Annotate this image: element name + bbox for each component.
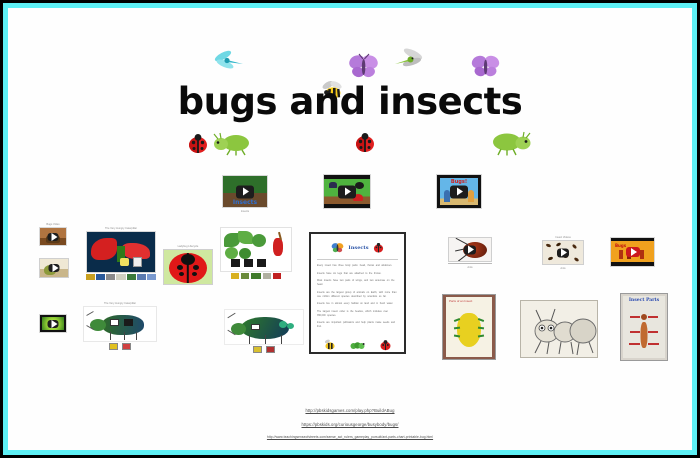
document-paragraph: Insects are the largest group of animals… [317, 291, 398, 298]
left-thumb-bug-clip-1[interactable]: Bugs Video [39, 223, 67, 246]
board-thumbnail-strip[interactable] [224, 346, 304, 353]
link-teaching-resource[interactable]: http://www.teachingsenseofstreets.com/se… [8, 436, 692, 440]
video-card-ant-closeup[interactable]: Ants [448, 237, 492, 269]
board-hungry-caterpillar[interactable] [220, 227, 292, 279]
play-button-icon[interactable] [48, 320, 59, 328]
video-thumbnail[interactable]: Insects [222, 175, 268, 208]
board-accent-border: bugs and insects [3, 3, 697, 455]
video-thumbnail[interactable] [542, 240, 584, 265]
document-paragraph: Insects have six legs that are attached … [317, 272, 398, 276]
play-button-icon[interactable] [450, 185, 468, 198]
butterfly-icon [331, 242, 344, 253]
artwork-pencil-ant-drawing[interactable] [520, 300, 598, 358]
video-overlay-title: Insects [223, 199, 267, 206]
document-divider [317, 259, 398, 260]
ladybug-photo[interactable] [163, 249, 213, 285]
board-image[interactable] [224, 309, 304, 345]
link-pbskids-curious-george[interactable]: https://pbskids.org/curiousgeorge/busybo… [8, 422, 692, 427]
video-card-insects-intro[interactable]: Insects Insects [222, 175, 268, 213]
video-thumbnail[interactable]: Bugs! [436, 174, 482, 209]
play-button-icon[interactable] [338, 185, 356, 198]
board-image[interactable] [220, 227, 292, 272]
document-paragraph: Every insect has three body parts: head,… [317, 264, 398, 268]
document-header: Insects [317, 239, 398, 256]
board-canvas: bugs and insects [8, 8, 692, 450]
board-image[interactable] [83, 306, 157, 342]
butterfly-purple-right-icon [471, 54, 501, 80]
video-thumbnail[interactable] [323, 174, 371, 209]
video-card-bug-cartoon-orange[interactable]: Bugs [610, 237, 655, 269]
left-thumb-bug-clip-2[interactable] [39, 258, 69, 280]
image-caption-top: Ladybug Lifecycle [163, 245, 213, 248]
play-button-icon[interactable] [464, 245, 476, 254]
insects-info-document[interactable]: Insects Every insect has three body part… [309, 232, 406, 354]
resource-links: http://pbskidsgames.com/play.php?BuildAB… [8, 408, 692, 440]
video-caption: Insects [222, 210, 268, 213]
document-paragraph: The largest insect order is the beetles,… [317, 310, 398, 317]
document-paragraph: Insects are important pollinators and he… [317, 321, 398, 328]
ant-sketch [521, 301, 598, 358]
ant-green-right-icon [490, 130, 534, 156]
ladybug-center-icon [353, 133, 377, 153]
board-green-beetle[interactable]: The Very Hungry Caterpillar [83, 302, 157, 350]
board-frame: bugs and insects [0, 0, 700, 458]
board-caption-top: The Very Hungry Caterpillar [86, 227, 156, 230]
link-bug-games[interactable]: http://pbskidsgames.com/play.php?BuildAB… [8, 408, 692, 413]
bee-icon [323, 338, 337, 351]
board-image[interactable] [86, 231, 156, 273]
page-title: bugs and insects [8, 80, 692, 123]
video-card-ant-colony[interactable]: Insect Videos Ants [542, 236, 584, 270]
thumb-caption-top: Bugs Video [39, 223, 67, 226]
play-button-icon[interactable] [626, 247, 640, 257]
video-card-kids-bug-song[interactable]: Bugs! [436, 174, 482, 211]
ladybug-icon [373, 243, 384, 253]
video-thumbnail[interactable] [39, 314, 67, 333]
ant-green-left-icon [210, 132, 252, 156]
board-beetle-dark[interactable] [224, 308, 304, 353]
title-block: bugs and insects [8, 24, 692, 154]
document-body: Every insect has three body parts: head,… [317, 264, 398, 329]
document-paragraph: Insects live in almost every habitat on … [317, 302, 398, 306]
artwork-title: Parts of an Insect [449, 299, 472, 303]
board-thumbnail-strip[interactable] [83, 343, 157, 350]
board-thumbnail-strip[interactable] [86, 274, 156, 280]
document-footer-graphics [317, 333, 398, 351]
left-thumb-bug-clip-3[interactable] [39, 314, 67, 335]
dragonfly-green-icon [393, 46, 429, 74]
artwork-insect-labels-poster[interactable]: Insect Parts [620, 293, 668, 361]
butterfly-purple-center-icon [348, 53, 380, 81]
document-title: Insects [348, 245, 368, 251]
video-thumbnail[interactable]: Bugs [610, 237, 655, 267]
document-paragraph: Most insects have two pairs of wings, an… [317, 279, 398, 286]
video-caption-top: Insect Videos [542, 236, 584, 239]
video-thumbnail[interactable] [448, 237, 492, 262]
caterpillar-icon [350, 339, 366, 351]
video-thumbnail[interactable] [39, 258, 69, 278]
board-thumbnail-strip[interactable] [220, 273, 292, 279]
video-thumbnail[interactable] [39, 227, 67, 246]
artwork-labeled-bug-worksheet[interactable]: Parts of an Insect [442, 294, 496, 360]
ladybug-left-icon [186, 134, 210, 154]
dragonfly-teal-icon [213, 48, 247, 74]
image-ladybug[interactable]: Ladybug Lifecycle [163, 245, 213, 285]
play-button-icon[interactable] [236, 185, 254, 198]
board-caption-top: The Very Hungry Caterpillar [83, 302, 157, 305]
video-card-bug-cartoon[interactable] [323, 174, 371, 211]
play-button-icon[interactable] [49, 264, 60, 272]
play-button-icon[interactable] [557, 248, 569, 257]
video-caption: Ants [448, 266, 492, 269]
video-caption: Ants [542, 267, 584, 270]
board-red-flower-bugs[interactable]: The Very Hungry Caterpillar [86, 227, 156, 280]
ladybug-icon [379, 340, 392, 351]
play-button-icon[interactable] [48, 233, 59, 241]
artwork-title: Insect Parts [621, 298, 667, 303]
